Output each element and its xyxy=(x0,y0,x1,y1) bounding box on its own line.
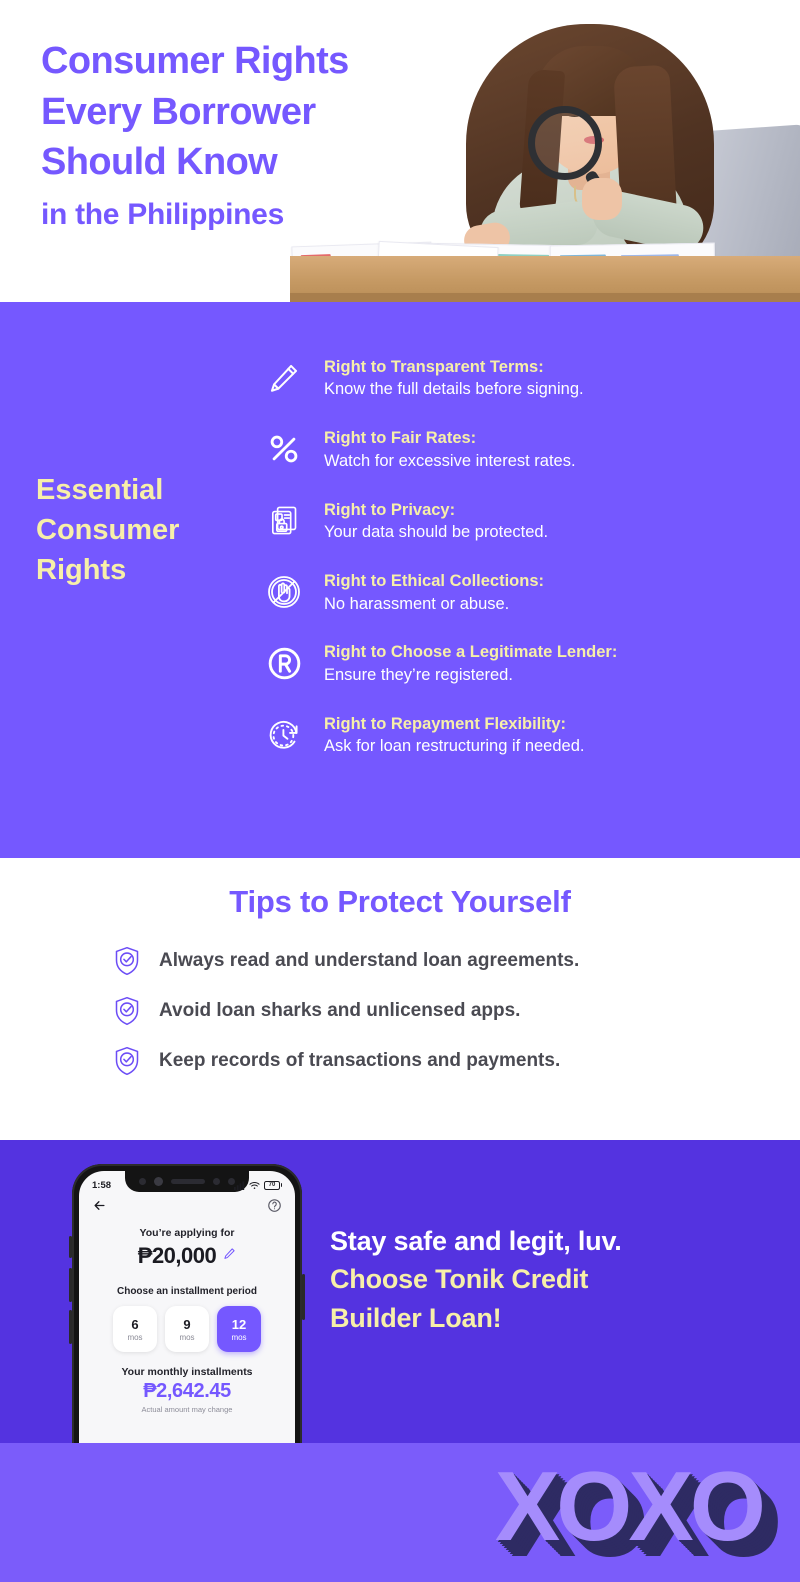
right-item: Right to Ethical Collections: No harassm… xyxy=(262,568,772,616)
tips-section: Tips to Protect Yourself Always read and… xyxy=(0,858,800,1140)
right-desc: No harassment or abuse. xyxy=(324,595,509,613)
clock-arrow-icon xyxy=(262,711,306,759)
percent-icon xyxy=(262,425,306,473)
right-desc: Ensure they’re registered. xyxy=(324,666,513,684)
signal-icon xyxy=(234,1181,245,1190)
page-subtitle: in the Philippines xyxy=(41,198,284,232)
phone-mute-button[interactable] xyxy=(69,1236,72,1258)
xoxo-logo: XOXO xyxy=(495,1457,762,1555)
right-title: Right to Ethical Collections: xyxy=(324,572,544,590)
installment-period-label: Choose an installment period xyxy=(79,1286,295,1297)
right-item: Right to Transparent Terms: Know the ful… xyxy=(262,354,772,402)
magnifying-glass-icon xyxy=(528,106,602,180)
phone-volume-up-button[interactable] xyxy=(69,1268,72,1302)
header-photo xyxy=(290,0,800,302)
tip-text: Always read and understand loan agreemen… xyxy=(159,950,579,972)
monthly-installment-note: Actual amount may change xyxy=(79,1405,295,1414)
installment-period-options: 6 mos 9 mos 12 mos xyxy=(79,1306,295,1352)
right-title: Right to Choose a Legitimate Lender: xyxy=(324,643,617,661)
right-desc: Watch for excessive interest rates. xyxy=(324,452,576,470)
right-item: Right to Privacy: Your data should be pr… xyxy=(262,497,772,545)
title-line-3: Should Know xyxy=(41,137,349,188)
right-title: Right to Privacy: xyxy=(324,501,455,519)
tip-item: Avoid loan sharks and unlicensed apps. xyxy=(112,994,800,1028)
loan-amount-row: ₱20,000 xyxy=(79,1243,295,1269)
rights-list: Right to Transparent Terms: Know the ful… xyxy=(262,354,772,782)
shield-check-icon xyxy=(112,994,142,1028)
period-number: 12 xyxy=(232,1317,246,1332)
app-nav-row xyxy=(79,1198,295,1218)
tip-text: Avoid loan sharks and unlicensed apps. xyxy=(159,1000,520,1022)
cta-copy: Stay safe and legit, luv. Choose Tonik C… xyxy=(330,1222,770,1337)
status-indicators: 70 xyxy=(234,1181,282,1190)
phone-screen: 1:58 70 xyxy=(79,1171,295,1443)
loan-application-panel: You’re applying for ₱20,000 Choose an in… xyxy=(79,1227,295,1414)
tips-heading: Tips to Protect Yourself xyxy=(0,858,800,920)
period-number: 6 xyxy=(131,1317,138,1332)
right-desc: Know the full details before signing. xyxy=(324,380,584,398)
rights-heading: Essential Consumer Rights xyxy=(36,470,256,590)
tip-item: Keep records of transactions and payment… xyxy=(112,1044,800,1078)
status-time: 1:58 xyxy=(92,1180,111,1191)
period-unit: mos xyxy=(179,1333,194,1342)
shield-check-icon xyxy=(112,1044,142,1078)
right-title: Right to Transparent Terms: xyxy=(324,358,544,376)
help-circle-icon[interactable] xyxy=(267,1198,282,1218)
wifi-icon xyxy=(249,1181,260,1190)
period-number: 9 xyxy=(183,1317,190,1332)
period-option-12[interactable]: 12 mos xyxy=(217,1306,261,1352)
cta-line-2: Choose Tonik Credit xyxy=(330,1260,770,1298)
monthly-installment-value: ₱2,642.45 xyxy=(79,1380,295,1403)
monthly-installment-label: Your monthly installments xyxy=(79,1366,295,1378)
right-title: Right to Fair Rates: xyxy=(324,429,476,447)
title-line-1: Consumer Rights xyxy=(41,36,349,87)
phone-volume-down-button[interactable] xyxy=(69,1310,72,1344)
footer-section: XOXO xyxy=(0,1443,800,1582)
desk-edge xyxy=(290,293,800,302)
right-desc: Your data should be protected. xyxy=(324,523,548,541)
right-item: Right to Repayment Flexibility: Ask for … xyxy=(262,711,772,759)
phone-power-button[interactable] xyxy=(302,1274,305,1320)
battery-level: 70 xyxy=(269,1182,276,1188)
back-arrow-icon[interactable] xyxy=(92,1198,107,1218)
page-title: Consumer Rights Every Borrower Should Kn… xyxy=(41,36,349,188)
essential-rights-section: Essential Consumer Rights Right to Trans… xyxy=(0,302,800,858)
tip-item: Always read and understand loan agreemen… xyxy=(112,944,800,978)
right-desc: Ask for loan restructuring if needed. xyxy=(324,737,584,755)
no-hand-icon xyxy=(262,568,306,616)
applying-label: You’re applying for xyxy=(79,1227,295,1239)
loan-amount-value: ₱20,000 xyxy=(138,1243,216,1269)
battery-icon: 70 xyxy=(264,1181,282,1190)
document-lock-icon xyxy=(262,497,306,545)
pen-icon xyxy=(262,354,306,402)
tip-text: Keep records of transactions and payment… xyxy=(159,1050,560,1072)
hand-right xyxy=(582,178,622,220)
period-unit: mos xyxy=(231,1333,246,1342)
phone-mockup: 1:58 70 xyxy=(72,1164,302,1443)
period-unit: mos xyxy=(127,1333,142,1342)
period-option-9[interactable]: 9 mos xyxy=(165,1306,209,1352)
right-item: Right to Fair Rates: Watch for excessive… xyxy=(262,425,772,473)
period-option-6[interactable]: 6 mos xyxy=(113,1306,157,1352)
cta-line-3: Builder Loan! xyxy=(330,1299,770,1337)
title-line-2: Every Borrower xyxy=(41,87,349,138)
registered-icon xyxy=(262,639,306,687)
cta-line-1: Stay safe and legit, luv. xyxy=(330,1222,770,1260)
pencil-edit-icon[interactable] xyxy=(223,1247,236,1265)
right-title: Right to Repayment Flexibility: xyxy=(324,715,566,733)
desk-surface xyxy=(290,256,800,302)
status-bar: 1:58 70 xyxy=(79,1177,295,1193)
right-item: Right to Choose a Legitimate Lender: Ens… xyxy=(262,639,772,687)
header-section: Consumer Rights Every Borrower Should Kn… xyxy=(0,0,800,302)
shield-check-icon xyxy=(112,944,142,978)
tips-list: Always read and understand loan agreemen… xyxy=(0,944,800,1078)
cta-section: 1:58 70 xyxy=(0,1140,800,1443)
